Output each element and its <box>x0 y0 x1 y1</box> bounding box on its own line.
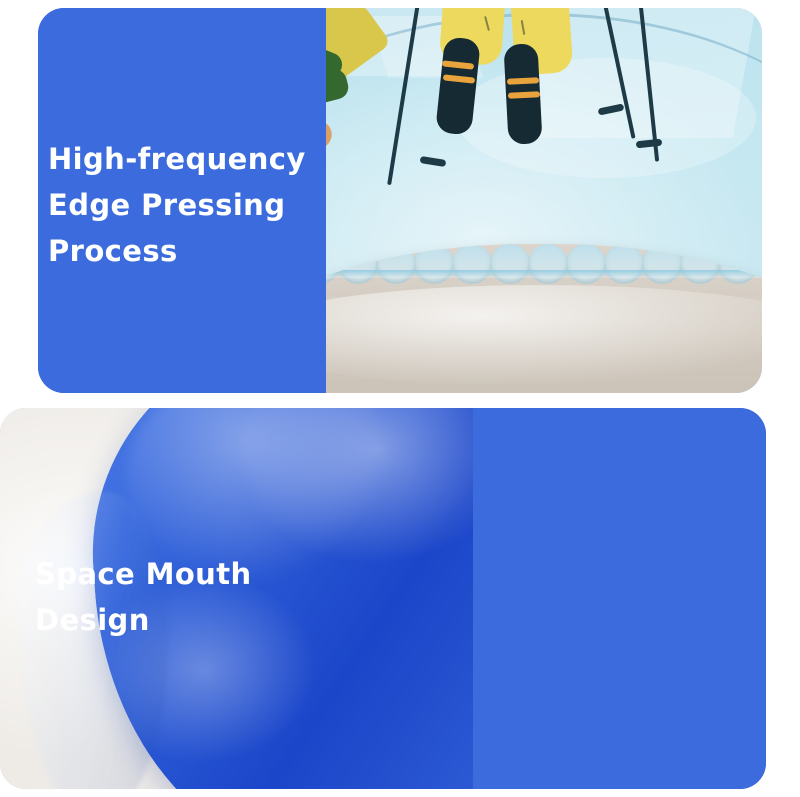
caption-bottom-line-1: Space Mouth <box>35 551 285 597</box>
caption-top-line-2: Edge Pressing <box>48 182 328 228</box>
product-feature-collage: High-frequency Edge Pressing Process MAX… <box>0 0 800 797</box>
caption-panel-bottom <box>473 408 766 789</box>
caption-bottom-line-2: Design <box>35 597 285 643</box>
photo-high-frequency-edge <box>326 8 762 393</box>
caption-top-line-3: Process <box>48 228 328 274</box>
caption-top-line-1: High-frequency <box>48 136 328 182</box>
feature-card-bottom: MAX 0.3 BAR MADE IN CHINA WARNING READ T… <box>0 408 766 789</box>
caption-bottom: Space Mouth Design <box>35 551 285 643</box>
caption-top: High-frequency Edge Pressing Process <box>48 136 328 274</box>
skier-figure-center <box>386 8 636 138</box>
rim-highlight <box>326 285 762 386</box>
high-frequency-welded-rim <box>326 244 762 393</box>
feature-card-top: High-frequency Edge Pressing Process <box>38 8 762 393</box>
